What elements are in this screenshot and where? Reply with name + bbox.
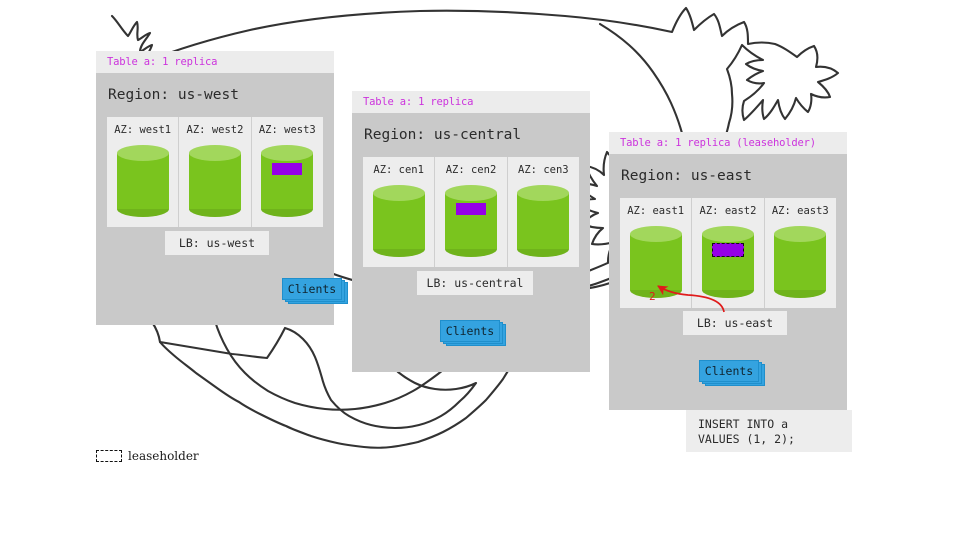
db-cylinder-cen2[interactable] — [445, 185, 497, 257]
az-cell-cen3[interactable]: AZ: cen3 — [507, 157, 579, 267]
clients-stack-us-east[interactable]: Clients — [699, 360, 765, 386]
az-cell-west2[interactable]: AZ: west2 — [178, 117, 250, 227]
cylinder-body — [774, 234, 826, 290]
load-balancer-us-central[interactable]: LB: us-central — [417, 271, 533, 295]
cylinder-top — [189, 145, 241, 161]
cylinder-top — [445, 185, 497, 201]
az-cell-east3[interactable]: AZ: east3 — [764, 198, 836, 308]
cylinder-body — [373, 193, 425, 249]
cylinder-top — [373, 185, 425, 201]
cylinder-body — [117, 153, 169, 209]
db-cylinder-west1[interactable] — [117, 145, 169, 217]
panel-header-us-east: Table a: 1 replica (leaseholder) — [609, 132, 847, 154]
cylinder-top — [261, 145, 313, 161]
az-label: AZ: west2 — [187, 124, 244, 136]
diagram-canvas: Table a: 1 replica Region: us-west AZ: w… — [0, 0, 960, 540]
region-title-us-east: Region: us-east — [621, 168, 752, 184]
db-cylinder-cen1[interactable] — [373, 185, 425, 257]
cylinder-body — [189, 153, 241, 209]
replica-header-label: Table a: 1 replica — [107, 56, 217, 68]
arrow-step-label: 2 — [649, 290, 656, 303]
cylinder-top — [630, 226, 682, 242]
az-label: AZ: east1 — [627, 205, 684, 217]
az-label: AZ: west1 — [114, 124, 171, 136]
az-label: AZ: cen2 — [446, 164, 497, 176]
az-cell-cen1[interactable]: AZ: cen1 — [363, 157, 434, 267]
clients-button[interactable]: Clients — [699, 360, 759, 382]
clients-stack-us-central[interactable]: Clients — [440, 320, 506, 346]
cylinder-top — [774, 226, 826, 242]
region-title-us-west: Region: us-west — [108, 87, 239, 103]
panel-header-us-west: Table a: 1 replica — [96, 51, 334, 73]
az-label: AZ: west3 — [259, 124, 316, 136]
dashed-rect-icon — [96, 450, 122, 462]
sql-statement-box: INSERT INTO a VALUES (1, 2); — [686, 410, 852, 452]
legend-label: leaseholder — [128, 449, 199, 463]
az-cell-east1[interactable]: AZ: east1 — [620, 198, 691, 308]
clients-button[interactable]: Clients — [440, 320, 500, 342]
replica-header-label: Table a: 1 replica — [363, 96, 473, 108]
db-cylinder-west2[interactable] — [189, 145, 241, 217]
region-panel-us-west: Table a: 1 replica Region: us-west AZ: w… — [96, 73, 334, 325]
az-cell-east2[interactable]: AZ: east2 — [691, 198, 763, 308]
clients-button[interactable]: Clients — [282, 278, 342, 300]
replica-marker-cen2 — [456, 203, 486, 215]
az-label: AZ: cen1 — [373, 164, 424, 176]
az-cell-west1[interactable]: AZ: west1 — [107, 117, 178, 227]
az-label: AZ: east3 — [772, 205, 829, 217]
cylinder-body — [630, 234, 682, 290]
region-panel-us-central: Table a: 1 replica Region: us-central AZ… — [352, 113, 590, 372]
region-panel-us-east: Table a: 1 replica (leaseholder) Region:… — [609, 154, 847, 410]
load-balancer-us-east[interactable]: LB: us-east — [683, 311, 787, 335]
region-title-us-central: Region: us-central — [364, 127, 521, 143]
db-cylinder-east2[interactable] — [702, 226, 754, 298]
cylinder-body — [261, 153, 313, 209]
load-balancer-us-west[interactable]: LB: us-west — [165, 231, 269, 255]
cylinder-body — [445, 193, 497, 249]
clients-stack-us-west[interactable]: Clients — [282, 278, 348, 304]
db-cylinder-west3[interactable] — [261, 145, 313, 217]
az-label: AZ: cen3 — [518, 164, 569, 176]
az-cell-cen2[interactable]: AZ: cen2 — [434, 157, 506, 267]
az-container-us-central: AZ: cen1 AZ: cen2 AZ: cen3 — [363, 157, 579, 267]
replica-marker-leaseholder-east2 — [712, 243, 744, 257]
replica-header-label: Table a: 1 replica (leaseholder) — [620, 137, 816, 149]
cylinder-top — [702, 226, 754, 242]
db-cylinder-east3[interactable] — [774, 226, 826, 298]
cylinder-top — [517, 185, 569, 201]
az-label: AZ: east2 — [700, 205, 757, 217]
db-cylinder-cen3[interactable] — [517, 185, 569, 257]
legend: leaseholder — [96, 449, 199, 463]
replica-marker-west3 — [272, 163, 302, 175]
panel-header-us-central: Table a: 1 replica — [352, 91, 590, 113]
cylinder-body — [517, 193, 569, 249]
db-cylinder-east1[interactable] — [630, 226, 682, 298]
az-container-us-west: AZ: west1 AZ: west2 AZ: west3 — [107, 117, 323, 227]
az-cell-west3[interactable]: AZ: west3 — [251, 117, 323, 227]
cylinder-top — [117, 145, 169, 161]
